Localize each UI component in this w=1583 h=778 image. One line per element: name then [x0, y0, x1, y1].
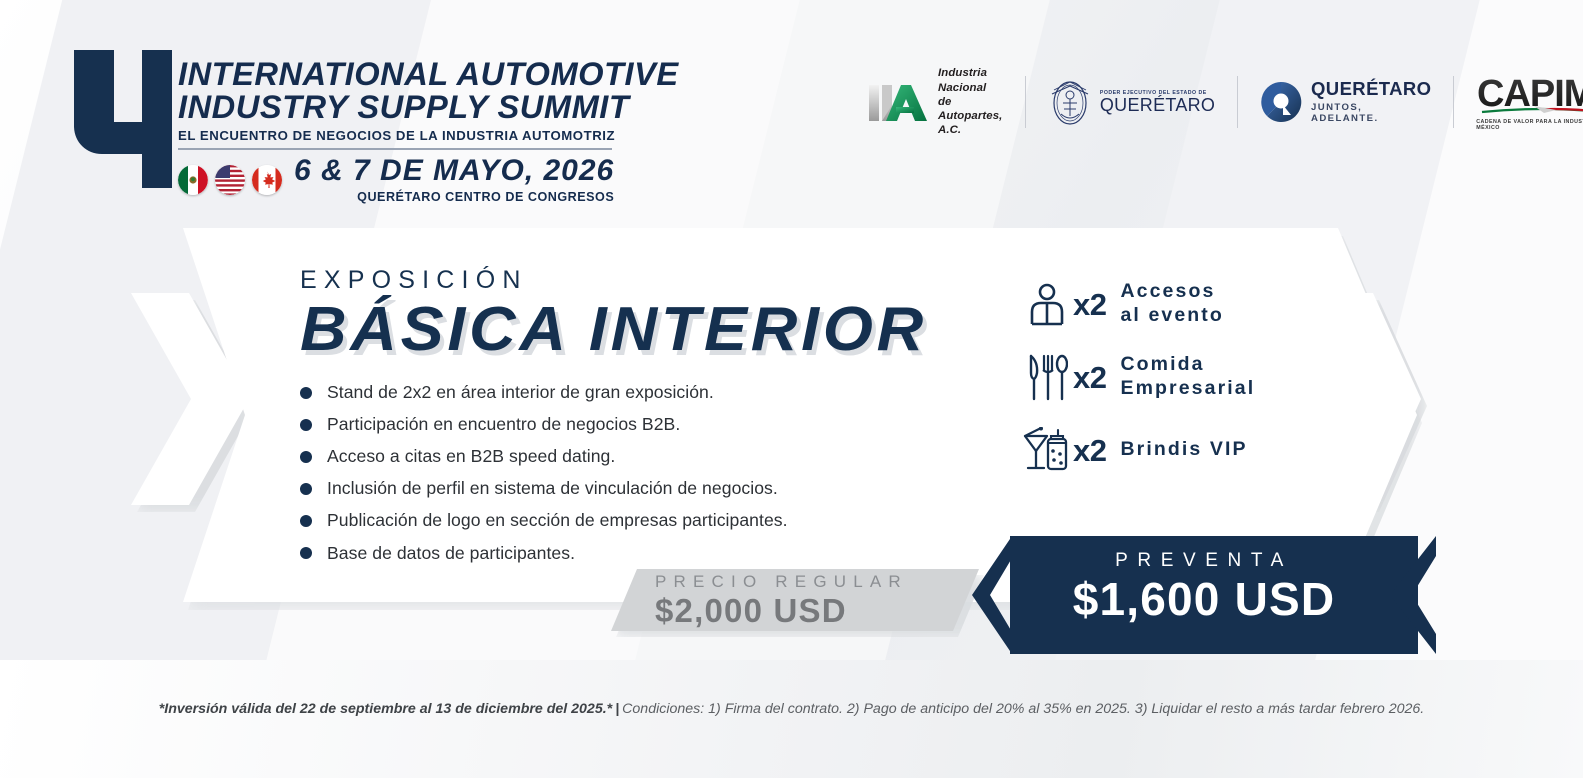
regular-price-label: PRECIO REGULAR: [655, 572, 955, 592]
pricing-banners: PRECIO REGULAR $2,000 USD PREVENTA $1,60…: [0, 0, 1583, 778]
presale-price-value: $1,600 USD: [1010, 575, 1398, 625]
footer-conditions: Condiciones: 1) Firma del contrato. 2) P…: [622, 701, 1424, 717]
presale-price-content: PREVENTA $1,600 USD: [1010, 550, 1398, 624]
footer-separator: |: [615, 701, 619, 717]
regular-price-content: PRECIO REGULAR $2,000 USD: [655, 572, 955, 628]
footer-validity: *Inversión válida del 22 de septiembre a…: [159, 701, 612, 717]
regular-price-value: $2,000 USD: [655, 593, 955, 629]
presale-price-label: PREVENTA: [1010, 550, 1398, 573]
presale-left-chevron-icon: [972, 536, 1012, 654]
legal-footer: *Inversión válida del 22 de septiembre a…: [0, 692, 1583, 726]
